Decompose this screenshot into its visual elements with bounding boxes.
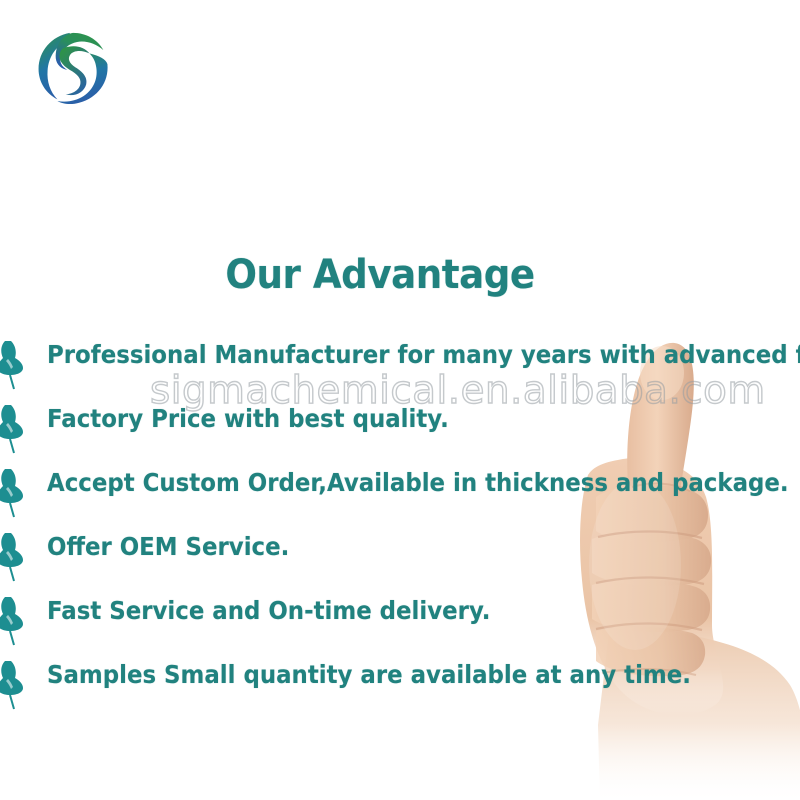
advantage-list: Professional Manufacturer for many years… [0, 333, 800, 717]
list-item-label: Professional Manufacturer for many years… [47, 338, 800, 372]
list-item: Samples Small quantity are available at … [0, 653, 800, 717]
pushpin-icon [0, 337, 35, 393]
pushpin-icon [0, 593, 35, 649]
pushpin-icon [0, 465, 35, 521]
company-logo [32, 28, 114, 110]
pushpin-icon [0, 529, 35, 585]
list-item-label: Fast Service and On-time delivery. [47, 594, 490, 628]
list-item: Fast Service and On-time delivery. [0, 589, 800, 653]
page-title: Our Advantage [27, 252, 734, 298]
advantage-banner: Our Advantage Professional Manufacturer … [0, 0, 800, 800]
list-item: Offer OEM Service. [0, 525, 800, 589]
pushpin-icon [0, 401, 35, 457]
list-item-label: Factory Price with best quality. [47, 402, 449, 436]
list-item: Professional Manufacturer for many years… [0, 333, 800, 397]
list-item-label: Offer OEM Service. [47, 530, 289, 564]
list-item: Accept Custom Order,Available in thickne… [0, 461, 800, 525]
list-item-label: Accept Custom Order,Available in thickne… [47, 466, 789, 500]
list-item-label: Samples Small quantity are available at … [47, 658, 691, 692]
list-item: Factory Price with best quality. [0, 397, 800, 461]
bs-monogram-icon [32, 28, 114, 110]
pushpin-icon [0, 657, 35, 713]
